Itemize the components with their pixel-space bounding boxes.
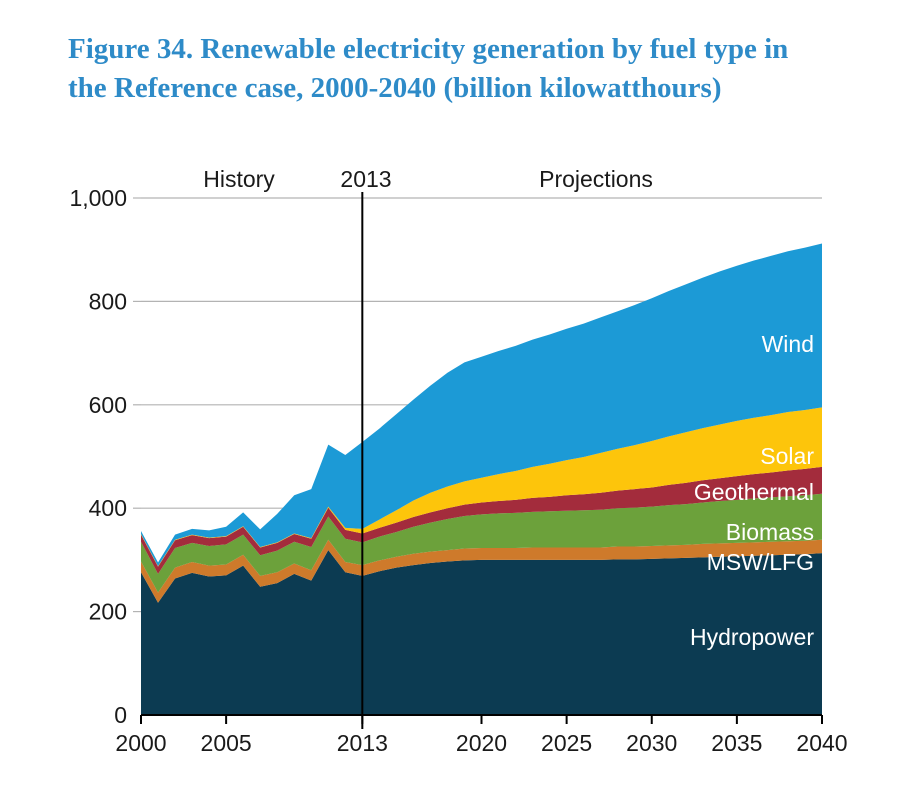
x-tick-2005: 2005: [201, 730, 252, 756]
series-label-mswlfg: MSW/LFG: [707, 549, 814, 575]
series-label-wind: Wind: [762, 331, 814, 357]
x-tick-2020: 2020: [456, 730, 507, 756]
series-label-solar: Solar: [760, 443, 814, 469]
y-tick-0: 0: [114, 702, 127, 728]
x-axis-tick-labels: 20002005201320202025203020352040: [115, 730, 847, 756]
y-tick-400: 400: [89, 495, 127, 521]
y-tick-1000: 1,000: [69, 185, 127, 211]
x-tick-2040: 2040: [796, 730, 847, 756]
series-label-hydropower: Hydropower: [690, 624, 814, 650]
axes: [141, 715, 822, 724]
history-annotation: History: [203, 166, 275, 192]
x-tick-2035: 2035: [711, 730, 762, 756]
x-tick-2013: 2013: [337, 730, 388, 756]
y-axis-tick-labels: 02004006008001,000: [69, 185, 141, 728]
series-label-geothermal: Geothermal: [694, 479, 814, 505]
figure-root: Figure 34. Renewable electricity generat…: [0, 0, 900, 800]
x-tick-2000: 2000: [115, 730, 166, 756]
y-tick-600: 600: [89, 392, 127, 418]
divider-year-annotation: 2013: [340, 166, 391, 192]
y-tick-200: 200: [89, 599, 127, 625]
y-tick-800: 800: [89, 288, 127, 314]
x-tick-2025: 2025: [541, 730, 592, 756]
projections-annotation: Projections: [539, 166, 653, 192]
x-tick-2030: 2030: [626, 730, 677, 756]
renewable-generation-area-chart: 02004006008001,000 200020052013202020252…: [0, 0, 900, 800]
series-label-biomass: Biomass: [726, 519, 814, 545]
